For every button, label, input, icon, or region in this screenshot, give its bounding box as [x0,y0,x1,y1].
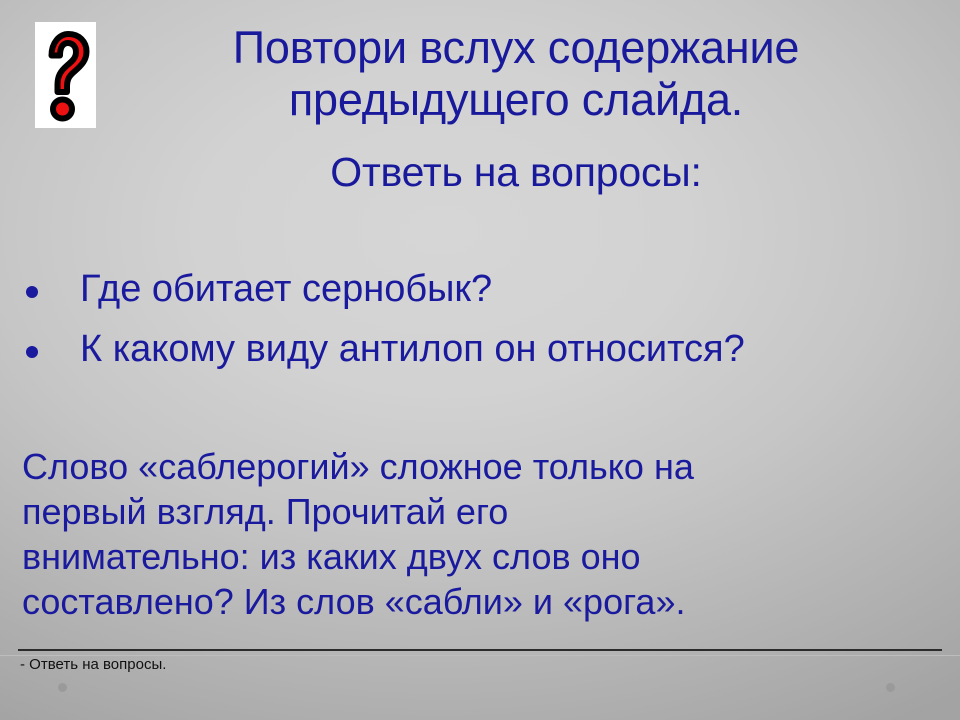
footer-divider [18,649,942,651]
question-mark-glyph [35,22,96,128]
page-title: Повтори вслух содержание предыдущего сла… [96,22,936,197]
paragraph-line-2: первый взгляд. Прочитай его [22,489,927,534]
list-item: К какому виду антилоп он относится? [0,326,940,373]
question-mark-icon [35,22,96,128]
title-line-3: Ответь на вопросы: [96,147,936,197]
bullet-dot-icon [26,346,38,358]
list-item-label: Где обитает сернобык? [80,268,492,310]
list-item-label: К какому виду антилоп он относится? [80,328,745,370]
slide-canvas: Повтори вслух содержание предыдущего сла… [0,0,960,720]
decorative-dot-right [886,683,895,692]
title-line-1: Повтори вслух содержание [96,22,936,74]
paragraph-line-1: Слово «саблерогий» сложное только на [22,444,927,489]
decorative-dot-left [58,683,67,692]
bullet-dot-icon [26,286,38,298]
list-item: Где обитает сернобык? [0,266,940,313]
explanation-paragraph: Слово «саблерогий» сложное только на пер… [22,444,927,624]
paragraph-line-3: внимательно: из каких двух слов оно [22,534,927,579]
paragraph-line-4: составлено? Из слов «сабли» и «рога». [22,579,927,624]
footer-note: - Ответь на вопросы. [20,655,166,675]
question-list: Где обитает сернобык? К какому виду анти… [0,266,940,386]
title-line-2: предыдущего слайда. [96,74,936,126]
